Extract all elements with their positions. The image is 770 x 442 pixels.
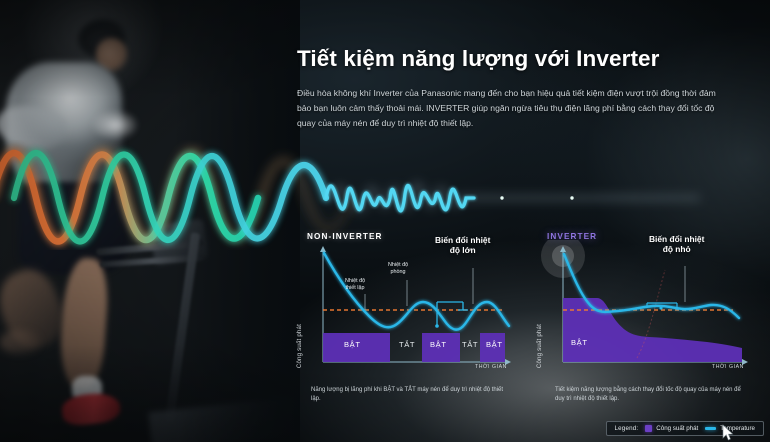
bar-label-on-inverter: BẬT	[571, 338, 588, 348]
legend: Legend: Công suất phát Temperature	[606, 421, 764, 436]
annotation-large-temperature-swing: Biến đổi nhiệt độ lớn	[435, 235, 490, 256]
annotation-room-temperature-line1: Nhiệt độ	[388, 262, 408, 268]
purple-square-icon	[645, 425, 652, 432]
chart-panel-non-inverter: NON-INVERTER Công suất phát	[297, 228, 529, 418]
annotation-set-temperature: Nhiệt độ thiết lập	[345, 278, 365, 292]
page-title: Tiết kiệm năng lượng với Inverter	[297, 46, 759, 72]
annotation-large-swing-line2: độ lớn	[450, 245, 476, 255]
annotation-room-temperature: Nhiệt độ phòng	[388, 262, 408, 276]
annotation-room-temperature-line2: phòng	[391, 269, 406, 275]
bar-label-off-2: TẮT	[462, 340, 478, 350]
copy-block: Tiết kiệm năng lượng với Inverter Điều h…	[297, 46, 759, 130]
legend-item-power: Công suất phát	[645, 425, 698, 432]
chart-panel-inverter: INVERTER Công suất phát	[537, 228, 767, 418]
bar-label-on-1: BẬT	[344, 340, 361, 350]
mouse-cursor-icon	[722, 424, 734, 442]
chart-caption-inverter: Tiết kiệm năng lượng bằng cách thay đổi …	[555, 386, 751, 405]
legend-item-power-label: Công suất phát	[656, 425, 698, 432]
legend-label: Legend:	[615, 425, 639, 432]
inverter-energy-saving-banner: Tiết kiệm năng lượng với Inverter Điều h…	[0, 0, 770, 442]
bar-label-on-3: BẬT	[486, 340, 503, 350]
annotation-small-swing-line1: Biến đổi nhiệt	[649, 234, 704, 244]
annotation-small-temperature-swing: Biến đổi nhiệt độ nhỏ	[649, 234, 704, 255]
annotation-small-swing-line2: độ nhỏ	[663, 244, 691, 254]
charts-container: NON-INVERTER Công suất phát	[297, 228, 767, 418]
bar-label-on-2: BẬT	[430, 340, 447, 350]
body-paragraph: Điều hòa không khí Inverter của Panasoni…	[297, 86, 717, 130]
bar-label-off-1: TẮT	[399, 340, 415, 350]
annotation-set-temperature-line1: Nhiệt độ	[345, 278, 365, 284]
annotation-set-temperature-line2: thiết lập	[346, 285, 365, 291]
x-axis-label-inverter: THỜI GIAN	[712, 364, 744, 370]
x-axis-label-non-inverter: THỜI GIAN	[475, 364, 507, 370]
chart-caption-non-inverter: Năng lượng bị lãng phí khi BẬT và TẮT má…	[311, 386, 511, 405]
annotation-large-swing-line1: Biến đổi nhiệt	[435, 235, 490, 245]
blue-line-icon	[705, 427, 716, 430]
